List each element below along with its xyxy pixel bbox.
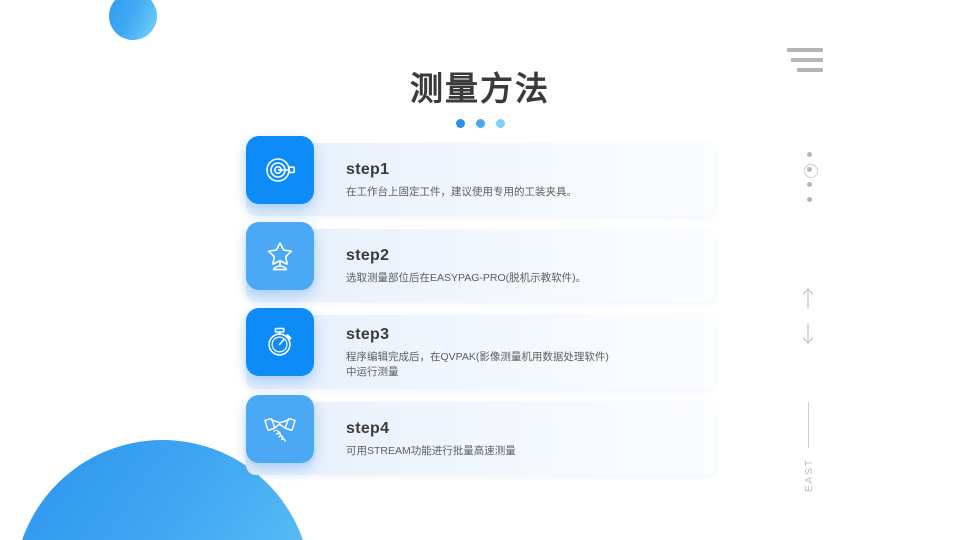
title-dot-1 [456,119,465,128]
step-desc-line2: 中运行测量 [346,365,700,380]
step-text-4: step4 可用STREAM功能进行批量高速测量 [246,402,716,475]
slide-arrow-nav[interactable] [800,286,816,346]
title-dot-3 [496,119,505,128]
step-text-2: step2 选取测量部位后在EASYPAG-PRO(脱机示教软件)。 [246,229,716,302]
title-dots [0,119,960,128]
step-list: step1 在工作台上固定工件，建议使用专用的工装夹具。 step2 选取测量部… [246,143,716,488]
page-heading: 测量方法 [0,66,960,128]
hamburger-bar-1 [787,48,823,52]
slide-dot-3[interactable] [807,182,812,187]
slide-canvas: 测量方法 step1 在工作台上固定工件，建议使用专用 [0,0,960,540]
step-desc-line1: 在工作台上固定工件，建议使用专用的工装夹具。 [346,186,577,198]
target-arrow-icon [246,136,314,204]
step-title-4: step4 [346,418,700,440]
step-text-1: step1 在工作台上固定工件，建议使用专用的工装夹具。 [246,143,716,216]
step-desc-line1: 程序编辑完成后，在QVPAK(影像测量机用数据处理软件) [346,351,609,363]
step-card-2[interactable]: step2 选取测量部位后在EASYPAG-PRO(脱机示教软件)。 [246,229,716,302]
slide-dot-4[interactable] [807,197,812,202]
step-card-1[interactable]: step1 在工作台上固定工件，建议使用专用的工装夹具。 [246,143,716,216]
step-title-1: step1 [346,159,700,181]
hamburger-bar-2 [791,58,823,62]
step-desc-1: 在工作台上固定工件，建议使用专用的工装夹具。 [346,185,700,200]
page-title: 测量方法 [0,66,960,112]
stopwatch-icon [246,308,314,376]
step-text-3: step3 程序编辑完成后，在QVPAK(影像测量机用数据处理软件) 中运行测量 [246,315,716,389]
step-desc-line1: 可用STREAM功能进行批量高速测量 [346,445,516,457]
rail-divider [808,402,809,448]
step-title-3: step3 [346,324,700,346]
step-title-2: step2 [346,245,700,267]
arrow-up-icon[interactable] [800,286,816,310]
step-desc-4: 可用STREAM功能进行批量高速测量 [346,444,700,459]
step-desc-line1: 选取测量部位后在EASYPAG-PRO(脱机示教软件)。 [346,272,586,284]
brand-label: EAST [804,458,815,492]
step-card-3[interactable]: step3 程序编辑完成后，在QVPAK(影像测量机用数据处理软件) 中运行测量 [246,315,716,389]
step-desc-2: 选取测量部位后在EASYPAG-PRO(脱机示教软件)。 [346,271,700,286]
arrow-down-icon[interactable] [800,322,816,346]
slide-dot-nav[interactable] [807,152,812,202]
slide-dot-2[interactable] [807,167,812,172]
title-dot-2 [476,119,485,128]
step-desc-3: 程序编辑完成后，在QVPAK(影像测量机用数据处理软件) 中运行测量 [346,350,700,380]
handshake-icon [246,395,314,463]
slide-dot-1[interactable] [807,152,812,157]
star-trophy-icon [246,222,314,290]
decorative-circle-top [109,0,157,40]
step-card-4[interactable]: step4 可用STREAM功能进行批量高速测量 [246,402,716,475]
